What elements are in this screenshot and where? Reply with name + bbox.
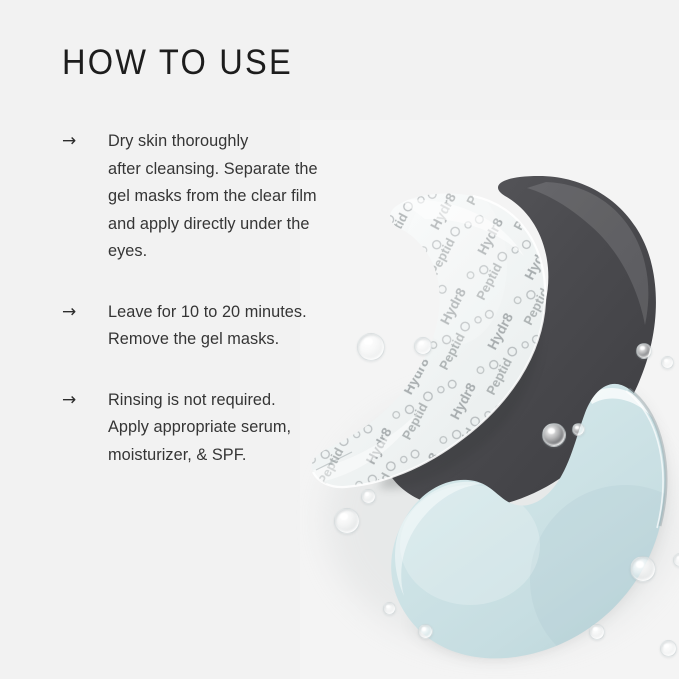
- water-droplet: [661, 356, 674, 369]
- blue-mask-drop-shadow: [410, 395, 661, 654]
- water-droplet: [572, 423, 585, 436]
- arrow-right-icon: →: [62, 299, 108, 325]
- step-item: →Leave for 10 to 20 minutes. Remove the …: [62, 299, 392, 354]
- water-droplet: [542, 423, 566, 447]
- water-droplet: [418, 624, 433, 639]
- pale-blue-gel-mask: [391, 384, 679, 675]
- step-item: →Dry skin thoroughly after cleansing. Se…: [62, 128, 392, 266]
- step-item: →Rinsing is not required. Apply appropri…: [62, 387, 392, 470]
- instructions-column: HOW TO USE →Dry skin thoroughly after cl…: [62, 44, 392, 469]
- step-text: Rinsing is not required. Apply appropria…: [108, 387, 392, 470]
- how-to-use-card: Hydr8 Peptide: [0, 0, 679, 679]
- page-title: HOW TO USE: [62, 44, 369, 82]
- arrow-right-icon: →: [62, 128, 108, 154]
- water-droplet: [589, 624, 605, 640]
- water-droplet: [630, 556, 656, 582]
- film-drop-shadow: [378, 220, 541, 489]
- water-droplet: [383, 602, 396, 615]
- water-droplet: [660, 640, 677, 657]
- water-droplet: [673, 553, 679, 567]
- water-droplet: [334, 508, 360, 534]
- arrow-right-icon: →: [62, 387, 108, 413]
- step-text: Dry skin thoroughly after cleansing. Sep…: [108, 128, 392, 266]
- water-droplet: [414, 337, 432, 355]
- dark-gel-mask: [380, 176, 656, 509]
- water-droplet: [636, 343, 652, 359]
- steps-list: →Dry skin thoroughly after cleansing. Se…: [62, 128, 392, 469]
- step-text: Leave for 10 to 20 minutes. Remove the g…: [108, 299, 392, 354]
- water-droplet: [361, 489, 376, 504]
